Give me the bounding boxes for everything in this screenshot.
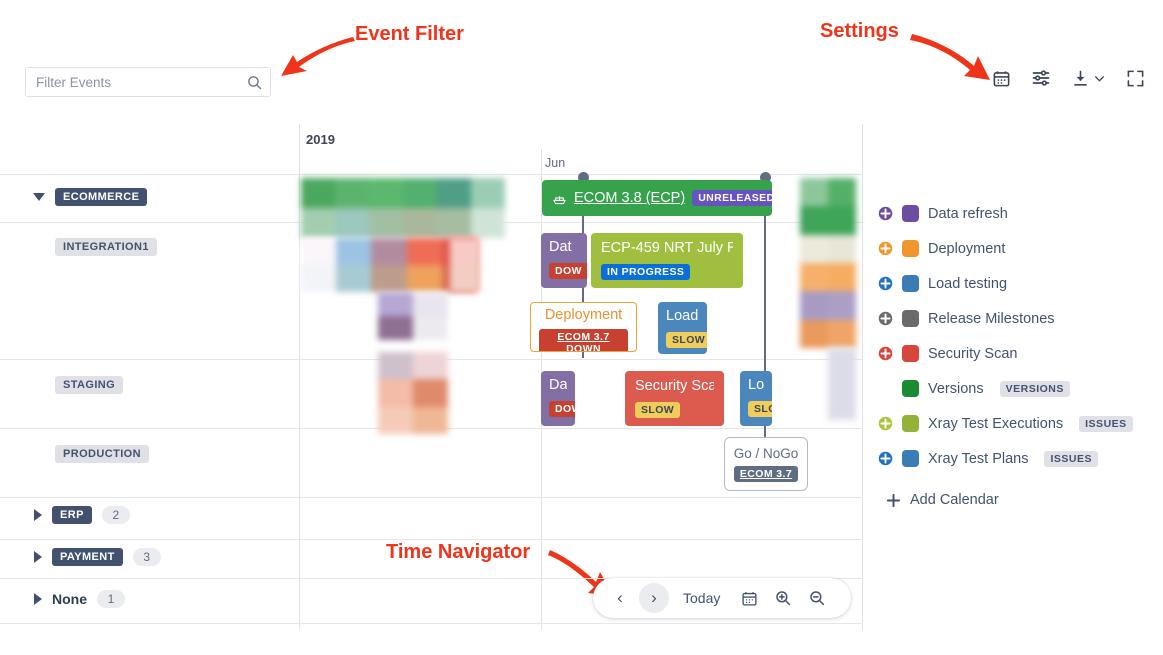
caret-right-icon[interactable] xyxy=(34,593,42,605)
milestone-title: Go / NoGo xyxy=(734,446,799,461)
plus-icon xyxy=(886,493,901,508)
add-calendar-button[interactable]: Add Calendar xyxy=(886,492,1158,508)
add-circle-icon[interactable] xyxy=(878,346,893,361)
row-label-text: None xyxy=(52,591,87,607)
release-ship-icon xyxy=(552,191,567,206)
event-ecp459[interactable]: ECP-459 NRT July Re IN PROGRESS xyxy=(591,233,743,288)
blurred-events-left-top xyxy=(301,178,505,238)
calendar-icon[interactable] xyxy=(992,69,1011,88)
legend-swatch xyxy=(902,205,919,222)
blurred-events-left-bottom xyxy=(378,352,448,434)
row-label-ecommerce[interactable]: ECOMMERCE xyxy=(33,188,147,206)
row-label-integration1[interactable]: INTEGRATION1 xyxy=(55,238,157,256)
annotation-settings: Settings xyxy=(820,20,899,43)
grid-hline xyxy=(0,539,863,540)
row-label-text: STAGING xyxy=(55,376,123,394)
prev-button[interactable]: ‹ xyxy=(605,583,635,613)
event-tag: SLOW xyxy=(635,402,680,418)
event-tag: SLOW xyxy=(666,332,707,348)
event-load-testing-staging[interactable]: Loa SLO xyxy=(740,371,772,426)
add-circle-icon[interactable] xyxy=(878,451,893,466)
row-label-none[interactable]: None 1 xyxy=(34,590,125,608)
search-icon[interactable] xyxy=(242,74,266,91)
grid-vline-year xyxy=(299,124,300,630)
event-title: Deployment xyxy=(539,308,628,324)
timeline-app: Event Filter Settings Time Navigator 201… xyxy=(0,0,1163,655)
legend-type-tag: ISSUES xyxy=(1044,451,1098,467)
event-tag: ECOM 3.7 DOWN xyxy=(539,329,628,352)
caret-right-icon[interactable] xyxy=(34,509,42,521)
row-label-payment[interactable]: PAYMENT 3 xyxy=(34,548,161,566)
legend-label: Security Scan xyxy=(928,346,1017,362)
event-filter-search[interactable] xyxy=(25,67,271,97)
legend-swatch xyxy=(902,240,919,257)
grid-hline xyxy=(0,623,863,624)
time-navigator: ‹ › Today xyxy=(593,578,851,618)
add-circle-icon[interactable] xyxy=(878,241,893,256)
event-load-testing-integration[interactable]: Load t SLOW xyxy=(658,302,707,354)
annotation-arrow-event-filter xyxy=(277,35,357,80)
annotation-arrow-settings xyxy=(910,32,995,82)
zoom-out-icon[interactable] xyxy=(802,583,832,613)
sliders-icon[interactable] xyxy=(1031,68,1051,88)
add-circle-icon[interactable] xyxy=(878,276,893,291)
event-title: Dat xyxy=(549,378,567,394)
legend-type-tag: VERSIONS xyxy=(1000,381,1070,397)
calendar-legend: Data refresh Deployment Load testing xyxy=(878,196,1158,508)
blurred-events-left-mid-tail xyxy=(450,238,480,292)
legend-label: Xray Test Executions xyxy=(928,416,1063,432)
chevron-down-icon[interactable] xyxy=(1093,72,1106,85)
event-title: Dat xyxy=(549,240,579,256)
blurred-events-right xyxy=(800,178,856,348)
legend-label: Release Milestones xyxy=(928,311,1055,327)
add-circle-icon[interactable] xyxy=(878,416,893,431)
grid-hline xyxy=(0,497,863,498)
grid-hline xyxy=(0,174,863,175)
legend-item-versions[interactable]: Versions VERSIONS xyxy=(878,371,1158,406)
legend-swatch xyxy=(902,310,919,327)
version-bar-title: ECOM 3.8 (ECP) xyxy=(574,190,685,206)
caret-down-icon[interactable] xyxy=(33,193,45,201)
event-tag: IN PROGRESS xyxy=(601,264,690,280)
grid-vline-right xyxy=(862,124,863,630)
blurred-events-left-lower xyxy=(378,292,448,340)
row-label-staging[interactable]: STAGING xyxy=(55,376,123,394)
fullscreen-icon[interactable] xyxy=(1126,69,1145,88)
milestone-go-nogo[interactable]: Go / NoGo ECOM 3.7 xyxy=(724,437,808,491)
download-icon[interactable] xyxy=(1071,69,1090,88)
event-security-scan[interactable]: Security Scan SLOW xyxy=(625,371,724,426)
toolbar xyxy=(992,68,1145,88)
legend-type-tag: ISSUES xyxy=(1079,416,1133,432)
add-circle-icon[interactable] xyxy=(878,311,893,326)
version-bar-ecom38[interactable]: ECOM 3.8 (ECP) UNRELEASED xyxy=(542,180,772,216)
next-button[interactable]: › xyxy=(639,583,669,613)
version-bar-status: UNRELEASED xyxy=(692,190,772,206)
legend-label: Versions xyxy=(928,381,984,397)
row-label-text: PRODUCTION xyxy=(55,445,149,463)
legend-swatch xyxy=(902,380,919,397)
zoom-in-icon[interactable] xyxy=(768,583,798,613)
row-label-erp[interactable]: ERP 2 xyxy=(34,506,130,524)
event-data-refresh-staging[interactable]: Dat DOW xyxy=(541,371,575,426)
download-menu[interactable] xyxy=(1071,69,1106,88)
event-data-refresh-integration[interactable]: Dat DOW xyxy=(541,233,587,288)
row-label-text: ECOMMERCE xyxy=(55,188,147,206)
milestone-tag: ECOM 3.7 xyxy=(734,466,798,482)
calendar-icon[interactable] xyxy=(734,583,764,613)
event-title: Load t xyxy=(666,309,699,325)
blurred-events-right-tail xyxy=(828,348,856,420)
search-input[interactable] xyxy=(26,75,242,90)
row-label-text: INTEGRATION1 xyxy=(55,238,157,256)
legend-label: Load testing xyxy=(928,276,1007,292)
legend-label: Xray Test Plans xyxy=(928,451,1028,467)
add-calendar-label: Add Calendar xyxy=(910,492,999,508)
event-title: ECP-459 NRT July Re xyxy=(601,241,733,257)
today-button[interactable]: Today xyxy=(673,590,730,606)
legend-item-load-testing[interactable]: Load testing xyxy=(878,266,1158,301)
legend-item-xray-test-plans[interactable]: Xray Test Plans ISSUES xyxy=(878,441,1158,476)
event-deployment-ecom37[interactable]: Deployment ECOM 3.7 DOWN xyxy=(530,302,637,352)
event-tag: SLO xyxy=(748,401,772,417)
legend-swatch xyxy=(902,345,919,362)
legend-item-xray-test-executions[interactable]: Xray Test Executions ISSUES xyxy=(878,406,1158,441)
row-label-text: PAYMENT xyxy=(52,548,123,566)
legend-swatch xyxy=(902,415,919,432)
legend-label: Deployment xyxy=(928,241,1005,257)
event-tag: DOW xyxy=(549,401,575,417)
row-count: 3 xyxy=(133,548,161,566)
legend-label: Data refresh xyxy=(928,206,1008,222)
caret-right-icon[interactable] xyxy=(34,551,42,563)
legend-swatch xyxy=(902,450,919,467)
legend-item-release-milestones[interactable]: Release Milestones xyxy=(878,301,1158,336)
annotation-event-filter: Event Filter xyxy=(355,23,464,46)
event-tag: DOW xyxy=(549,263,587,279)
legend-swatch xyxy=(902,275,919,292)
row-count: 2 xyxy=(102,506,130,524)
legend-item-data-refresh[interactable]: Data refresh xyxy=(878,196,1158,231)
event-title: Loa xyxy=(748,378,764,394)
row-label-production[interactable]: PRODUCTION xyxy=(55,445,149,463)
legend-item-security-scan[interactable]: Security Scan xyxy=(878,336,1158,371)
row-label-text: ERP xyxy=(52,506,92,524)
row-count: 1 xyxy=(97,590,125,608)
add-circle-icon[interactable] xyxy=(878,206,893,221)
legend-item-deployment[interactable]: Deployment xyxy=(878,231,1158,266)
event-title: Security Scan xyxy=(635,379,714,395)
